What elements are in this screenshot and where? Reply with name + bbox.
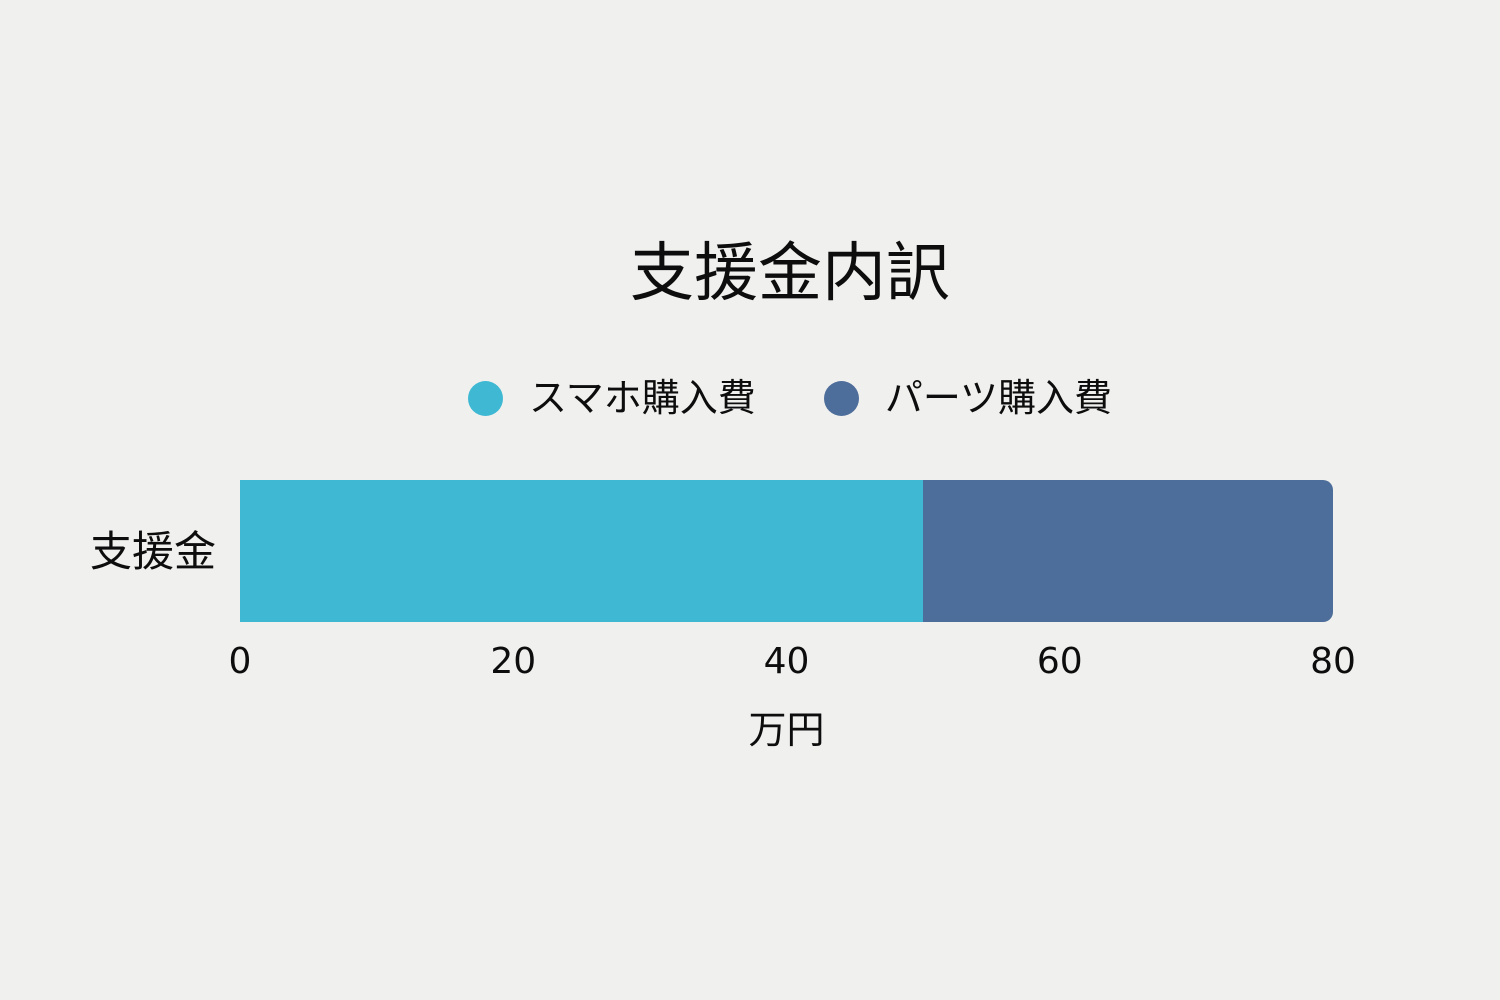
plot-area	[240, 480, 1333, 622]
bar-segment-smartphone-cost[interactable]	[240, 480, 923, 622]
legend-entry-0[interactable]: スマホ購入費	[468, 376, 756, 420]
x-tick-3: 60	[1037, 640, 1083, 684]
x-tick-4: 80	[1310, 640, 1356, 684]
chart-legend: スマホ購入費 パーツ購入費	[0, 376, 1500, 420]
x-axis-tick-labels: 0 20 40 60 80	[240, 640, 1333, 684]
stacked-bar-支援金	[240, 480, 1333, 622]
chart-canvas: 支援金内訳 スマホ購入費 パーツ購入費 支援金 0 20 40 60 80 万円	[0, 0, 1500, 1000]
x-tick-1: 20	[490, 640, 536, 684]
bar-segment-parts-cost[interactable]	[923, 480, 1333, 622]
y-axis-category-label: 支援金	[0, 528, 216, 576]
legend-swatch-circle-icon-0	[468, 381, 503, 416]
legend-label-1: パーツ購入費	[885, 376, 1112, 420]
x-tick-0: 0	[229, 640, 252, 684]
x-axis-title: 万円	[240, 706, 1333, 754]
legend-swatch-circle-icon-1	[824, 381, 859, 416]
legend-label-0: スマホ購入費	[529, 376, 756, 420]
legend-entry-1[interactable]: パーツ購入費	[824, 376, 1112, 420]
x-tick-2: 40	[764, 640, 810, 684]
chart-title: 支援金内訳	[0, 234, 1500, 314]
